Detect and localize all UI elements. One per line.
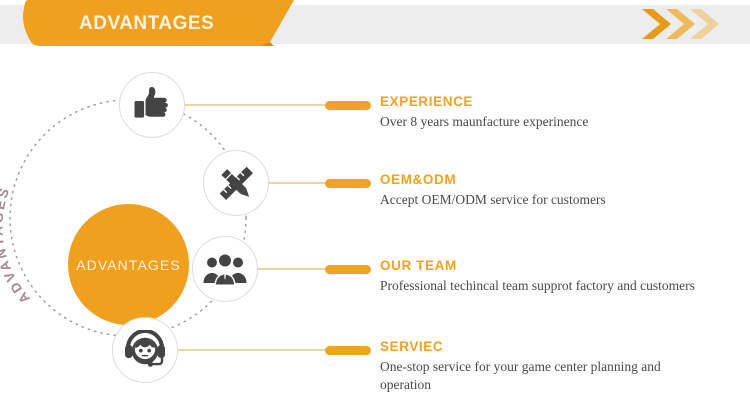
advantage-desc-4: One-stop service for your game center pl… — [380, 358, 710, 394]
pencil-ruler-icon — [215, 162, 257, 204]
advantage-title-2: OEM&ODM — [380, 172, 606, 187]
advantage-title-3: OUR TEAM — [380, 258, 695, 273]
advantage-title-4: SERVIEC — [380, 339, 710, 354]
center-circle-label: ADVANTAGES — [76, 257, 181, 273]
advantage-desc-3: Professional techincal team supprot fact… — [380, 277, 695, 295]
advantage-item-3: OUR TEAM Professional techincal team sup… — [380, 258, 695, 295]
advantages-infographic: ADVANTAGES ADVANTAGES — [0, 0, 750, 417]
diagram-area: ADVANTAGES ADVANTAGES — [0, 46, 750, 417]
curved-advantages-label: ADVANTAGES — [0, 184, 33, 306]
marker-pill-4 — [325, 346, 371, 355]
advantage-item-1: EXPERIENCE Over 8 years maunfacture expe… — [380, 94, 588, 131]
headset-support-icon — [123, 330, 167, 370]
center-circle: ADVANTAGES — [68, 204, 189, 325]
thumbs-up-icon — [131, 85, 173, 125]
advantage-desc-2: Accept OEM/ODM service for customers — [380, 191, 606, 209]
advantage-item-4: SERVIEC One-stop service for your game c… — [380, 339, 710, 394]
advantage-desc-1: Over 8 years maunfacture experinence — [380, 113, 588, 131]
icon-bubble-oem-odm[interactable] — [203, 150, 269, 216]
icon-bubble-service[interactable] — [112, 317, 178, 383]
advantage-item-2: OEM&ODM Accept OEM/ODM service for custo… — [380, 172, 606, 209]
marker-pill-3 — [325, 265, 371, 274]
icon-bubble-our-team[interactable] — [192, 236, 258, 302]
icon-bubble-experience[interactable] — [119, 72, 185, 138]
marker-pill-2 — [325, 179, 371, 188]
marker-pill-1 — [325, 101, 371, 110]
team-people-icon — [203, 252, 247, 286]
page-title: ADVANTAGES — [79, 13, 214, 35]
advantage-title-1: EXPERIENCE — [380, 94, 588, 109]
double-chevron-right-icon — [640, 6, 730, 42]
